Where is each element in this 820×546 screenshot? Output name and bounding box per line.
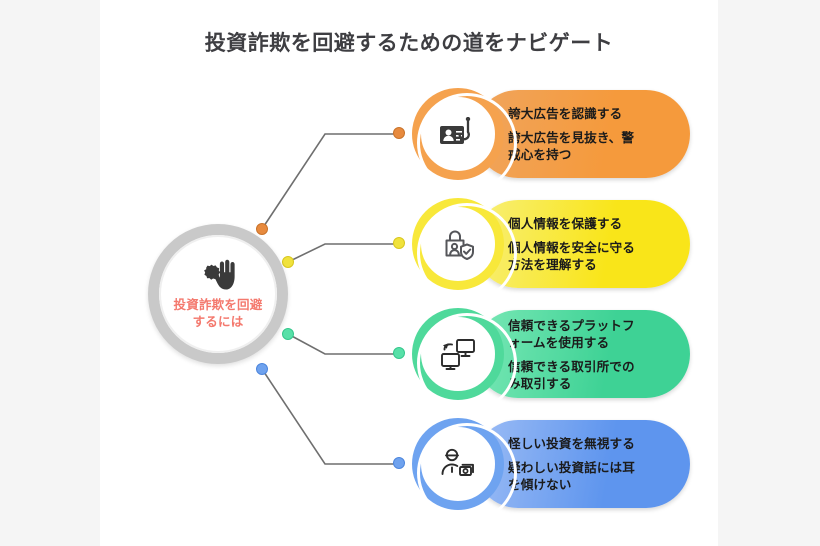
node-card-4-subtext-line1: 疑わしい投資話には耳	[508, 460, 635, 475]
diagram-stage: 投資詐欺を回避するための道をナビゲート	[0, 0, 820, 546]
node-card-1-subtext: 誇大広告を見抜き、警 戒心を持つ	[508, 129, 686, 163]
hub-label: 投資詐欺を回避 するには	[166, 296, 270, 330]
node-card-2[interactable]: 個人情報を保護する 個人情報を安全に守る 方法を理解する	[412, 198, 690, 290]
billboard-phishing-hook-icon	[421, 97, 495, 171]
node-card-3-heading-line2: ォームを使用する	[508, 335, 609, 350]
node-card-4-text: 怪しい投資を無視する 疑わしい投資話には耳 を傾けない	[508, 428, 686, 500]
hub-label-line2: するには	[193, 314, 244, 329]
node-card-2-icon-ring	[412, 198, 504, 290]
trusted-platform-monitors-icon	[421, 317, 495, 391]
node-card-3[interactable]: 信頼できるプラットフ ォームを使用する 信頼できる取引所での み取引する	[412, 308, 690, 400]
node-card-2-subtext: 個人情報を安全に守る 方法を理解する	[508, 239, 686, 273]
suspicious-person-money-icon	[421, 427, 495, 501]
hub-circle[interactable]: 投資詐欺を回避 するには	[148, 224, 288, 364]
node-card-3-heading-line1: 信頼できるプラットフ	[508, 318, 635, 333]
node-card-4-subtext: 疑わしい投資話には耳 を傾けない	[508, 459, 686, 493]
node-card-1-subtext-line1: 誇大広告を見抜き、警	[508, 130, 634, 145]
node-card-3-subtext-line2: み取引する	[508, 376, 571, 391]
node-card-3-text: 信頼できるプラットフ ォームを使用する 信頼できる取引所での み取引する	[508, 318, 686, 390]
node-card-4-subtext-line2: を傾けない	[508, 477, 571, 492]
node-card-3-heading: 信頼できるプラットフ ォームを使用する	[508, 317, 686, 351]
node-card-1[interactable]: 誇大広告を認識する 誇大広告を見抜き、警 戒心を持つ	[412, 88, 690, 180]
node-card-1-icon-ring	[412, 88, 504, 180]
hub-inner: 投資詐欺を回避 するには	[159, 235, 277, 353]
node-card-2-subtext-line1: 個人情報を安全に守る	[508, 240, 635, 255]
node-card-1-heading: 誇大広告を認識する	[508, 105, 686, 122]
stop-hand-warning-icon	[197, 259, 239, 293]
hub-label-line1: 投資詐欺を回避	[174, 297, 263, 312]
node-card-2-text: 個人情報を保護する 個人情報を安全に守る 方法を理解する	[508, 208, 686, 280]
node-card-4-icon-ring	[412, 418, 504, 510]
node-card-1-text: 誇大広告を認識する 誇大広告を見抜き、警 戒心を持つ	[508, 98, 686, 170]
node-card-2-heading: 個人情報を保護する	[508, 215, 686, 232]
node-card-2-subtext-line2: 方法を理解する	[508, 257, 597, 272]
node-card-4-heading: 怪しい投資を無視する	[508, 435, 686, 452]
lock-person-shield-icon	[421, 207, 495, 281]
node-card-3-subtext-line1: 信頼できる取引所での	[508, 359, 635, 374]
node-card-1-subtext-line2: 戒心を持つ	[508, 147, 571, 162]
node-card-4[interactable]: 怪しい投資を無視する 疑わしい投資話には耳 を傾けない	[412, 418, 690, 510]
node-card-3-subtext: 信頼できる取引所での み取引する	[508, 358, 686, 392]
node-card-3-icon-ring	[412, 308, 504, 400]
page-title: 投資詐欺を回避するための道をナビゲート	[100, 28, 718, 58]
